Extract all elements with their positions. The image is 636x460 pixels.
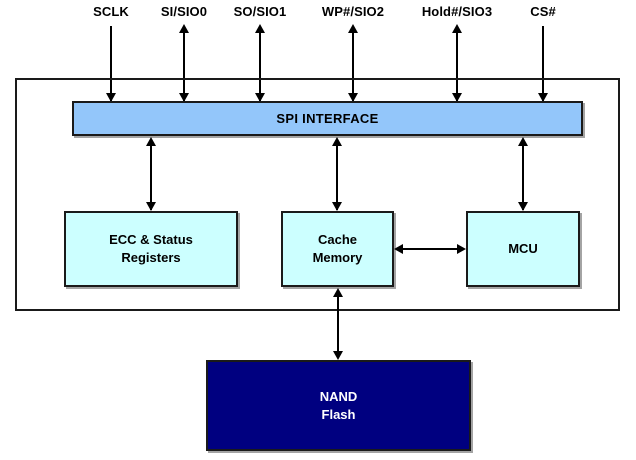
pin-label-si-sio0: SI/SIO0 xyxy=(161,4,207,19)
block-spi-interface: SPI INTERFACE xyxy=(72,101,583,136)
block-ecc-status-registers-line1: ECC & Status xyxy=(109,231,193,249)
block-nand-flash: NAND Flash xyxy=(206,360,471,451)
block-cache-memory-line1: Cache xyxy=(313,231,363,249)
pin-label-hold-sio3: Hold#/SIO3 xyxy=(422,4,492,19)
pin-label-sclk: SCLK xyxy=(93,4,129,19)
block-nand-flash-line2: Flash xyxy=(320,406,358,424)
block-mcu: MCU xyxy=(466,211,580,287)
pin-label-so-sio1: SO/SIO1 xyxy=(234,4,287,19)
block-ecc-status-registers: ECC & Status Registers xyxy=(64,211,238,287)
block-nand-flash-line1: NAND xyxy=(320,388,358,406)
block-mcu-label: MCU xyxy=(508,240,538,258)
block-cache-memory-line2: Memory xyxy=(313,249,363,267)
block-ecc-status-registers-line2: Registers xyxy=(109,249,193,267)
block-spi-interface-label: SPI INTERFACE xyxy=(276,110,378,128)
block-cache-memory: Cache Memory xyxy=(281,211,394,287)
block-diagram-canvas: SCLK SI/SIO0 SO/SIO1 WP#/SIO2 Hold#/SIO3… xyxy=(0,0,636,460)
pin-label-wp-sio2: WP#/SIO2 xyxy=(322,4,384,19)
pin-label-cs: CS# xyxy=(530,4,556,19)
